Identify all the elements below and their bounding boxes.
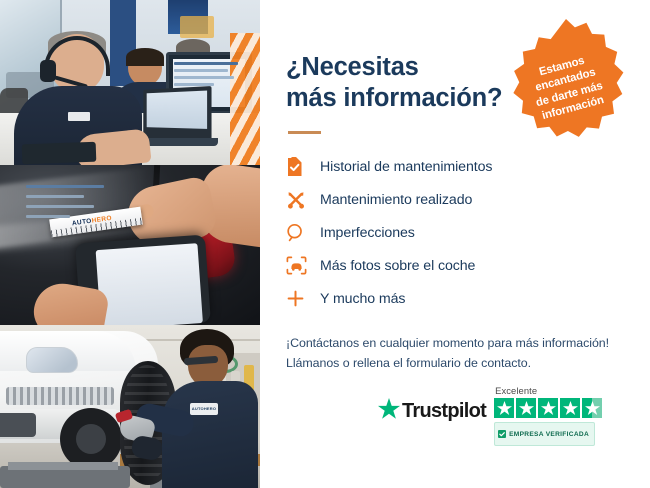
contact-line-2: Llámanos o rellena el formulario de cont… bbox=[286, 353, 624, 373]
trustpilot-rating-block[interactable]: Trustpilot Excelente bbox=[378, 385, 602, 446]
title-divider bbox=[288, 131, 321, 134]
screen-row bbox=[26, 215, 70, 218]
list-item-label: Imperfecciones bbox=[316, 224, 415, 242]
rating-label: Excelente bbox=[495, 385, 537, 396]
car-photo-frame-icon bbox=[286, 256, 316, 275]
car-grille bbox=[6, 387, 114, 405]
car-headlight bbox=[26, 347, 78, 373]
contact-copy: ¡Contáctanos en cualquier momento para m… bbox=[286, 333, 624, 373]
verified-badge: EMPRESA VERIFICADA bbox=[494, 422, 595, 446]
call-centre-agents-photo bbox=[0, 0, 260, 165]
screen-row bbox=[174, 83, 214, 86]
wall-poster-secondary bbox=[180, 16, 214, 38]
star-rating bbox=[494, 398, 602, 418]
star-filled bbox=[494, 398, 514, 418]
verified-label: EMPRESA VERIFICADA bbox=[509, 431, 589, 438]
screen-row bbox=[26, 205, 94, 208]
star-filled bbox=[538, 398, 558, 418]
list-item-label: Historial de mantenimientos bbox=[316, 158, 492, 176]
screen-row bbox=[174, 62, 238, 65]
technician: AUTOHERO bbox=[162, 329, 258, 488]
desk-tablet bbox=[22, 142, 97, 165]
uniform-badge bbox=[68, 112, 90, 121]
photo-column: AUTOHERO bbox=[0, 0, 260, 488]
car-air-intake bbox=[0, 413, 36, 437]
list-item-label: Mantenimiento realizado bbox=[316, 191, 472, 209]
list-item: Más fotos sobre el coche bbox=[286, 250, 624, 282]
content-panel: ¿Necesitas más información? Historial de… bbox=[260, 0, 650, 488]
check-square-icon bbox=[498, 425, 506, 443]
status-badge: Estamos encantados de darte más informac… bbox=[500, 16, 632, 148]
feature-list: Historial de mantenimientos M bbox=[286, 151, 624, 315]
tablet-screen-content bbox=[26, 185, 122, 225]
list-item: Y mucho más bbox=[286, 283, 624, 315]
screen-row bbox=[174, 69, 228, 72]
car-rear-tire bbox=[60, 408, 122, 470]
screen-row bbox=[26, 185, 104, 188]
screen-row bbox=[26, 195, 84, 198]
list-item: Historial de mantenimientos bbox=[286, 151, 624, 183]
car-inspection-ruler-photo: AUTOHERO bbox=[0, 165, 260, 325]
rating-group: Excelente bbox=[494, 385, 602, 446]
list-item: Mantenimiento realizado bbox=[286, 184, 624, 216]
information-promo-banner: AUTOHERO bbox=[0, 0, 650, 488]
list-item-label: Y mucho más bbox=[316, 290, 405, 308]
contact-line-1: ¡Contáctanos en cualquier momento para m… bbox=[286, 333, 624, 353]
trustpilot-star-icon bbox=[378, 398, 400, 424]
list-item-label: Más fotos sobre el coche bbox=[316, 257, 475, 275]
headline-line-2: más información? bbox=[286, 84, 502, 112]
star-half bbox=[582, 398, 602, 418]
page-title: ¿Necesitas más información? bbox=[286, 52, 521, 114]
monitor-screen-content bbox=[174, 62, 246, 104]
headline-line-1: ¿Necesitas bbox=[286, 53, 419, 81]
car-on-lift-wheel-photo: AUTOHERO bbox=[0, 325, 260, 488]
badge-text: Estamos encantados de darte más informac… bbox=[523, 50, 612, 125]
screen-row bbox=[174, 76, 234, 79]
magnifier-icon bbox=[286, 223, 316, 242]
document-check-icon bbox=[286, 157, 316, 177]
star-filled bbox=[560, 398, 580, 418]
crossed-tools-icon bbox=[286, 190, 316, 210]
list-item: Imperfecciones bbox=[286, 217, 624, 249]
vehicle-lift-arm bbox=[8, 462, 118, 470]
plus-icon bbox=[286, 289, 316, 308]
uniform-badge: AUTOHERO bbox=[190, 403, 218, 415]
trustpilot-logo[interactable]: Trustpilot bbox=[378, 385, 486, 424]
star-filled bbox=[516, 398, 536, 418]
trustpilot-brand-name: Trustpilot bbox=[402, 400, 486, 423]
